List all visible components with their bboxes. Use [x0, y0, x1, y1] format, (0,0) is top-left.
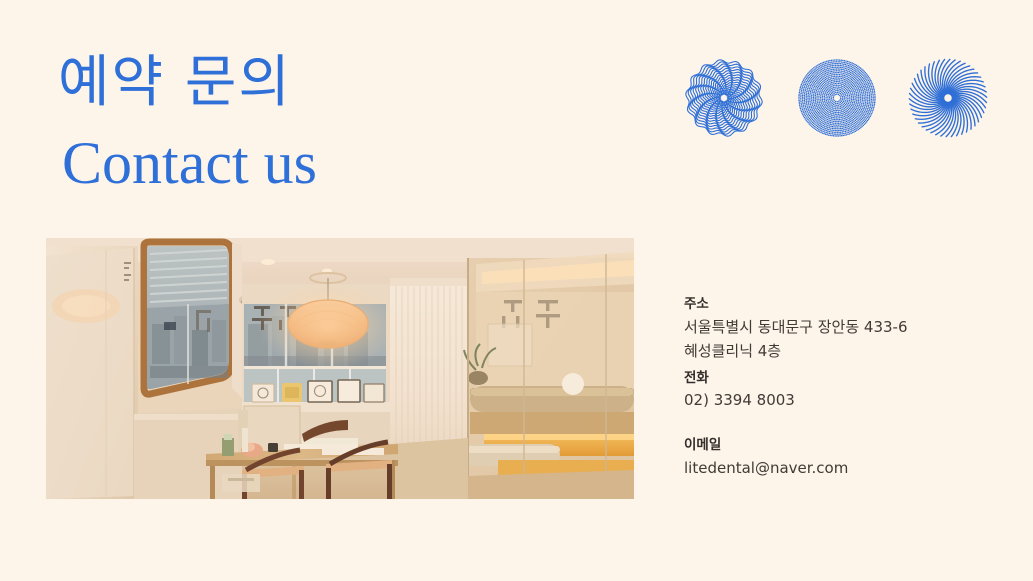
spirograph-rosette-icon [680, 54, 768, 142]
address-line-2: 혜성클리닉 4층 [684, 339, 984, 363]
address-line-1: 서울특별시 동대문구 장안동 433-6 [684, 315, 984, 339]
phone-label: 전화 [684, 368, 984, 389]
section-gap [684, 413, 984, 435]
spirograph-dotted-radial-icon [793, 54, 881, 142]
email-value[interactable]: litedental@naver.com [684, 456, 984, 480]
address-label: 주소 [684, 294, 984, 315]
contact-slide: 예약 문의 Contact us [0, 0, 1033, 581]
page-title: 예약 문의 Contact us [58, 52, 618, 193]
spirograph-pinwheel-icon [904, 54, 992, 142]
decorative-ornaments [680, 54, 1000, 144]
clinic-interior-photo [46, 238, 634, 499]
page-title-korean: 예약 문의 [58, 52, 618, 115]
phone-value[interactable]: 02) 3394 8003 [684, 388, 984, 412]
contact-details: 주소 서울특별시 동대문구 장안동 433-6 혜성클리닉 4층 전화 02) … [684, 294, 984, 480]
page-title-english: Contact us [62, 133, 618, 193]
email-label: 이메일 [684, 435, 984, 456]
